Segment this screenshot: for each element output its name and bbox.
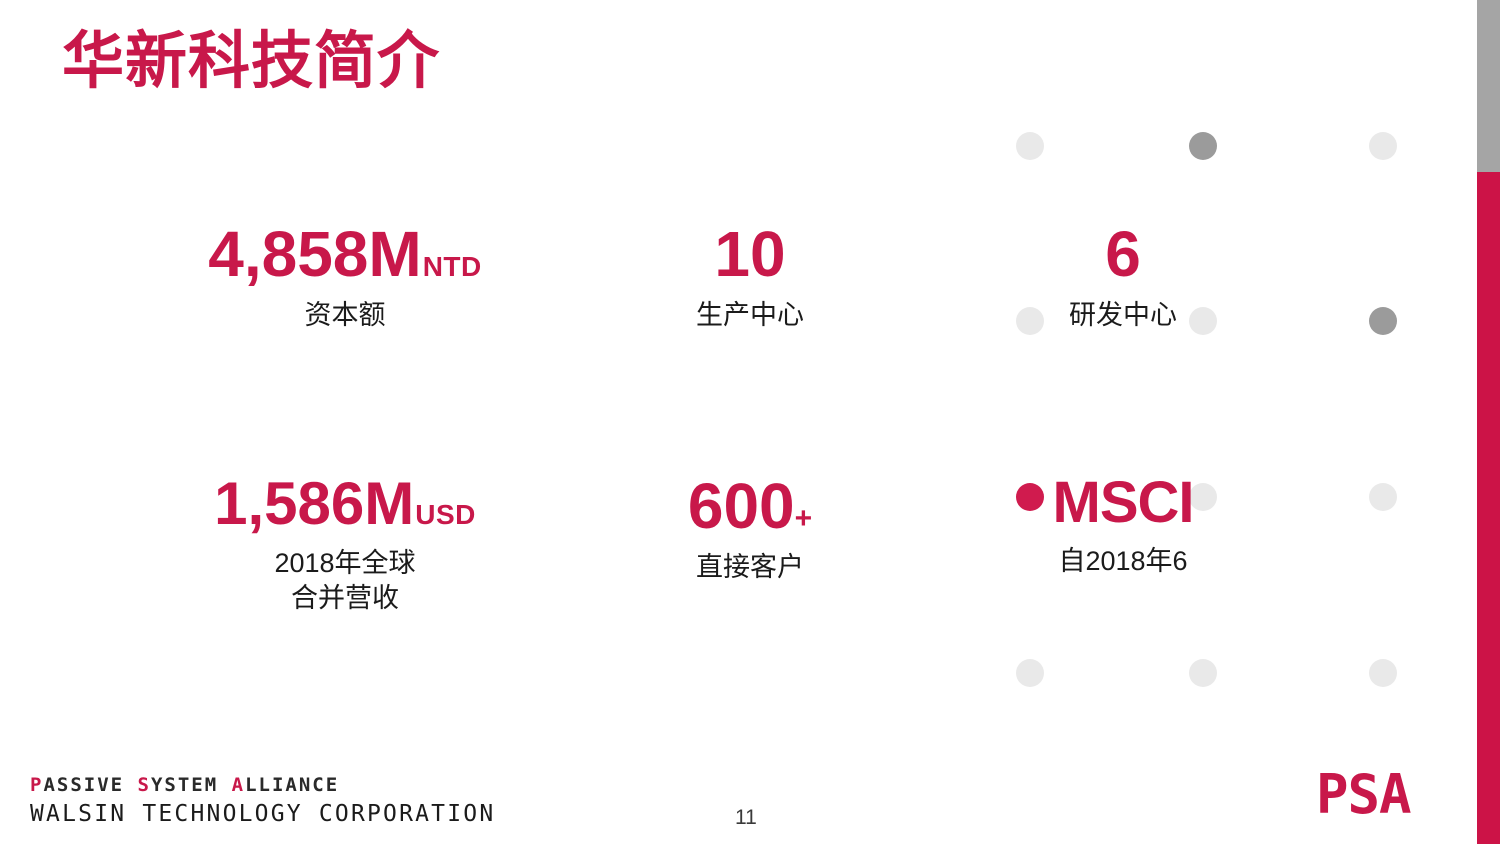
stat-revenue-number: 1,586M <box>214 470 414 537</box>
stat-direct-customers-value: 600+ <box>570 474 930 538</box>
edge-bar-red <box>1477 172 1500 844</box>
stat-rd-centers-value: 6 <box>943 222 1303 286</box>
page-number: 11 <box>735 806 757 830</box>
psa-logo: PSA <box>1316 768 1411 822</box>
stat-direct-customers-label: 直接客户 <box>570 550 930 585</box>
footer-alliance-segment: S <box>138 774 151 796</box>
msci-wordmark-row: MSCI <box>943 474 1303 532</box>
stat-direct-customers-plus: + <box>795 502 813 535</box>
stat-capital-number: 4,858M <box>208 218 421 290</box>
footer-alliance-segment: ASSIVE <box>43 774 137 796</box>
decorative-dot <box>1189 132 1217 160</box>
decorative-dot <box>1369 132 1397 160</box>
decorative-dot <box>1369 483 1397 511</box>
stat-msci-label: 自2018年6 <box>943 544 1303 579</box>
stat-capital-value: 4,858MNTD <box>165 222 525 286</box>
footer-alliance-segment: A <box>232 774 245 796</box>
msci-wordmark: MSCI <box>1053 474 1194 532</box>
stat-revenue-unit: USD <box>415 499 476 530</box>
footer-logo: PASSIVE SYSTEM ALLIANCE WALSIN TECHNOLOG… <box>30 776 495 826</box>
decorative-dot <box>1369 307 1397 335</box>
edge-bar-gray <box>1477 0 1500 172</box>
stat-capital-label: 资本额 <box>165 298 525 333</box>
footer-alliance-segment: YSTEM <box>151 774 232 796</box>
stat-msci: MSCI 自2018年6 <box>943 474 1303 579</box>
footer-alliance-segment: LLIANCE <box>245 774 339 796</box>
decorative-dot <box>1369 659 1397 687</box>
decorative-dot <box>1189 659 1217 687</box>
stat-revenue-label: 2018年全球 合并营收 <box>165 546 525 615</box>
stat-capital-unit: NTD <box>423 251 482 282</box>
stat-production-centers-label: 生产中心 <box>570 298 930 333</box>
page-title: 华新科技简介 <box>62 26 440 97</box>
decorative-dot <box>1016 132 1044 160</box>
stat-production-centers: 10 生产中心 <box>570 222 930 333</box>
stat-rd-centers-label: 研发中心 <box>943 298 1303 333</box>
stat-direct-customers: 600+ 直接客户 <box>570 474 930 585</box>
stat-direct-customers-number: 600 <box>688 470 795 542</box>
footer-alliance-segment: P <box>30 774 43 796</box>
stat-production-centers-value: 10 <box>570 222 930 286</box>
footer-alliance-line: PASSIVE SYSTEM ALLIANCE <box>30 776 495 795</box>
footer-company-line: WALSIN TECHNOLOGY CORPORATION <box>30 803 495 826</box>
decorative-dot <box>1016 659 1044 687</box>
stat-production-centers-number: 10 <box>714 218 785 290</box>
stat-capital: 4,858MNTD 资本额 <box>165 222 525 333</box>
slide-canvas: 华新科技简介 4,858MNTD 资本额 10 生产中心 6 研发中心 1,58… <box>0 0 1500 844</box>
stat-rd-centers-number: 6 <box>1105 218 1141 290</box>
stat-rd-centers: 6 研发中心 <box>943 222 1303 333</box>
stat-revenue-value: 1,586MUSD <box>165 474 525 534</box>
stat-revenue: 1,586MUSD 2018年全球 合并营收 <box>165 474 525 615</box>
